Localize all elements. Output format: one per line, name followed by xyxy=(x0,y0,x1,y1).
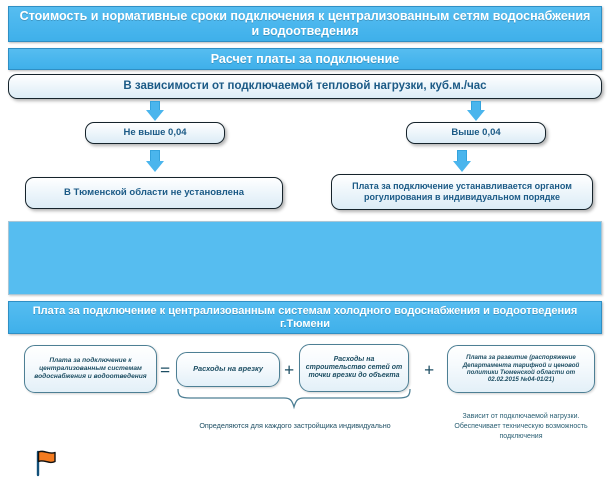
formula-operator-1-label: = xyxy=(160,360,170,380)
high-load-condition-label: Выше 0,04 xyxy=(451,127,500,139)
formula-operator-equals: = xyxy=(160,360,170,381)
low-load-condition-label: Не выше 0,04 xyxy=(123,127,186,139)
calculation-title: Расчет платы за подключение xyxy=(211,52,399,67)
formula-term-development-fee: Плата за развитие (распоряжение Департам… xyxy=(447,345,595,393)
blue-content-panel xyxy=(8,221,602,295)
page-title: Стоимость и нормативные сроки подключени… xyxy=(15,9,595,39)
formula-term-1-label: Плата за подключение к централизованным … xyxy=(29,357,152,380)
brace-caption-label: Определяются для каждого застройщика инд… xyxy=(199,421,390,430)
high-load-result-box: Плата за подключение устанавливается орг… xyxy=(331,174,593,210)
low-load-condition-box: Не выше 0,04 xyxy=(85,122,225,144)
formula-operator-3-label: + xyxy=(424,360,434,380)
formula-term-3-label: Расходы на строительство сетей от точки … xyxy=(304,356,404,381)
low-load-result-box: В Тюменской области не установлена xyxy=(25,177,283,209)
formula-term-4-label: Плата за развитие (распоряжение Департам… xyxy=(452,354,590,383)
formula-term-payment-for-connection: Плата за подключение к централизованным … xyxy=(24,345,157,393)
dependency-condition-box: В зависимости от подключаемой тепловой н… xyxy=(8,74,602,99)
formula-term-tap-in-costs: Расходы на врезку xyxy=(176,352,280,387)
arrow-down-to-high-condition xyxy=(466,101,486,121)
flag-icon xyxy=(33,449,63,477)
high-load-result-label: Плата за подключение устанавливается орг… xyxy=(338,181,586,203)
dependency-condition-label: В зависимости от подключаемой тепловой н… xyxy=(123,79,486,93)
formula-operator-2-label: + xyxy=(284,360,294,380)
formula-term-2-label: Расходы на врезку xyxy=(193,365,263,374)
bottom-section-title: Плата за подключение к централизованным … xyxy=(15,305,595,331)
arrow-down-to-high-result xyxy=(452,150,472,174)
formula-operator-plus-1: + xyxy=(284,360,294,381)
page-title-banner: Стоимость и нормативные сроки подключени… xyxy=(8,6,602,42)
high-load-condition-box: Выше 0,04 xyxy=(406,122,546,144)
formula-term-network-construction-costs: Расходы на строительство сетей от точки … xyxy=(299,344,409,392)
low-load-result-label: В Тюменской области не установлена xyxy=(64,187,244,199)
brace-caption: Определяются для каждого застройщика инд… xyxy=(140,421,450,430)
formula-operator-plus-2: + xyxy=(424,360,434,381)
arrow-down-to-low-result xyxy=(145,150,165,174)
bottom-section-banner: Плата за подключение к централизованным … xyxy=(8,301,602,334)
arrow-down-to-low-condition xyxy=(145,101,165,121)
development-fee-note-label: Зависит от подключаемой нагрузки. Обеспе… xyxy=(454,413,587,440)
curly-brace-icon xyxy=(176,388,412,410)
calculation-title-banner: Расчет платы за подключение xyxy=(8,48,602,70)
development-fee-note: Зависит от подключаемой нагрузки. Обеспе… xyxy=(440,402,602,443)
